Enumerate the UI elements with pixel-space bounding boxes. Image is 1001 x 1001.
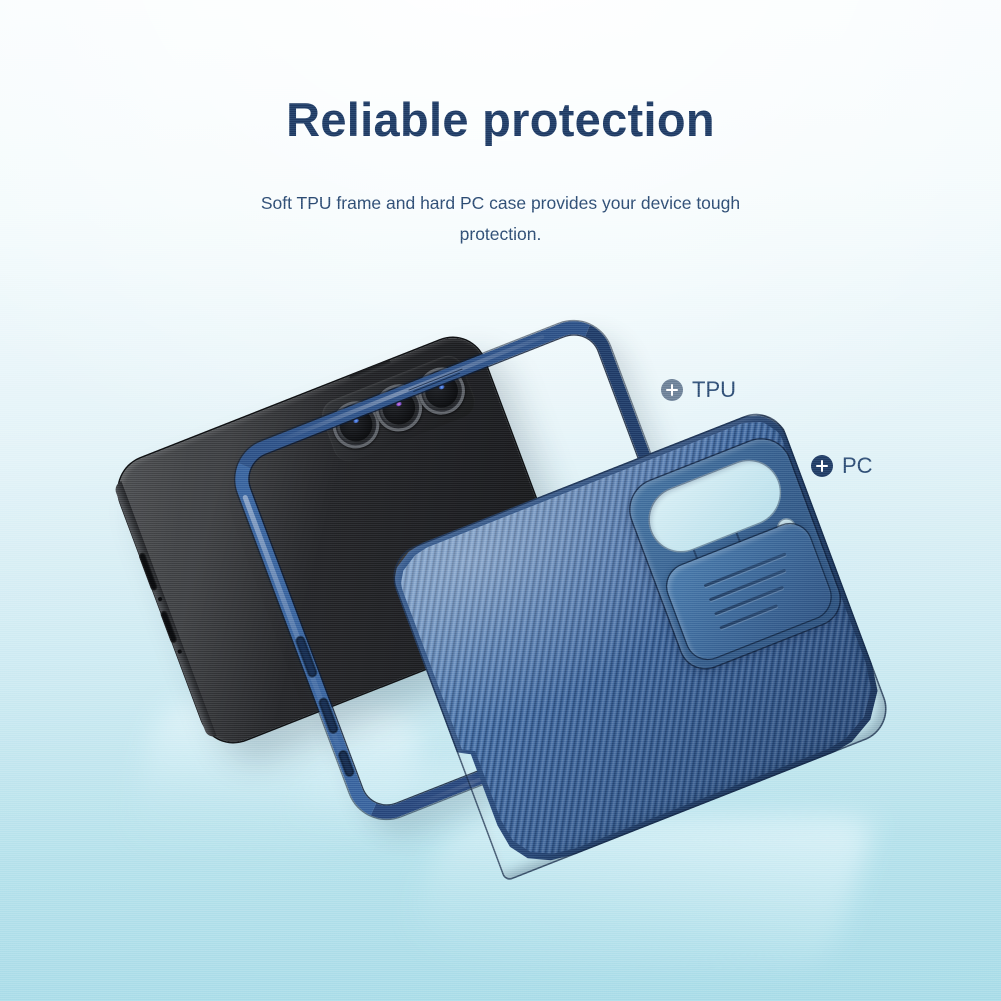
slider-grip-line: [704, 552, 787, 587]
page-title: Reliable protection: [0, 92, 1001, 147]
slider-grip-line: [714, 586, 784, 616]
slider-grip-line: [709, 569, 786, 602]
plus-circle-icon: [661, 379, 683, 401]
callout-tpu-label: TPU: [692, 377, 736, 403]
callout-tpu: TPU: [661, 377, 736, 403]
pc-case-reflection: [400, 816, 879, 966]
page-subtitle: Soft TPU frame and hard PC case provides…: [241, 188, 761, 250]
callout-pc: PC: [811, 453, 873, 479]
callout-pc-label: PC: [842, 453, 873, 479]
plus-circle-icon: [811, 455, 833, 477]
product-feature-image: Reliable protection Soft TPU frame and h…: [0, 0, 1001, 1001]
